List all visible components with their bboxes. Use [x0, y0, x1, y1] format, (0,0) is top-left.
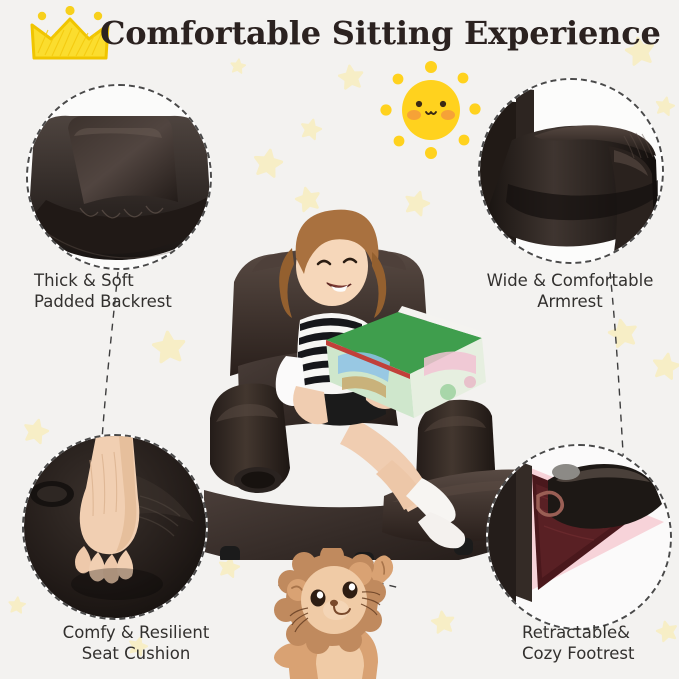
armrest-closeup-photo [478, 78, 664, 264]
feature-circle-retractable-footrest[interactable] [486, 444, 672, 630]
star-icon [650, 350, 679, 382]
feature-circle-padded-backrest[interactable] [26, 84, 212, 270]
star-icon [653, 94, 677, 118]
star-icon [336, 62, 365, 91]
footrest-closeup-photo [486, 444, 672, 630]
feature-caption-comfortable-armrest: Wide & Comfortable Armrest [470, 270, 670, 312]
backrest-closeup-photo [26, 84, 212, 270]
star-icon [7, 595, 27, 615]
feature-circle-seat-cushion[interactable] [22, 434, 208, 620]
seat-cushion-closeup-photo [22, 434, 208, 620]
star-icon [605, 315, 641, 351]
page-title: Comfortable Sitting Experience [100, 14, 660, 52]
lion-mascot-icon [268, 548, 396, 679]
feature-caption-padded-backrest: Thick & Soft Padded Backrest [34, 270, 244, 312]
star-icon [298, 116, 325, 143]
star-icon [429, 608, 456, 635]
feature-circle-comfortable-armrest[interactable] [478, 78, 664, 264]
sun-icon [378, 58, 484, 166]
star-icon [229, 57, 247, 75]
star-icon [150, 328, 187, 365]
feature-caption-retractable-footrest: Retractable& Cozy Footrest [522, 622, 679, 664]
poster-canvas: Comfortable Sitting Experience [0, 0, 679, 679]
star-icon [20, 415, 52, 447]
feature-caption-seat-cushion: Comfy & Resilient Seat Cushion [36, 622, 236, 664]
